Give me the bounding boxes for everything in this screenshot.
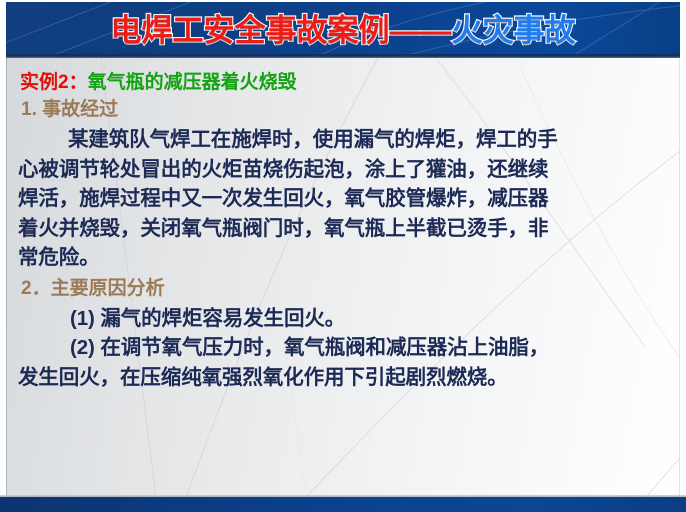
- section-2-item-2: (2) 在调节氧气压力时，氧气瓶阀和减压器沾上油脂， 发生回火，在压缩纯氧强烈氧…: [18, 338, 666, 388]
- list-item-continuation: 发生回火，在压缩纯氧强烈氧化作用下引起剧烈燃烧。: [18, 368, 666, 389]
- list-item: (2) 在调节氧气压力时，氧气瓶阀和减压器沾上油脂，: [18, 338, 666, 359]
- paragraph-line: 某建筑队气焊工在施焊时，使用漏气的焊炬，焊工的手: [18, 130, 666, 151]
- case-heading: 实例2：氧气瓶的减压器着火烧毁: [20, 73, 666, 92]
- slide-title-blue-part: 火灾事故: [452, 15, 576, 46]
- slide-title-band: 电焊工安全事故案例—— 火灾事故: [6, 2, 680, 58]
- case-label: 实例2：: [20, 72, 88, 93]
- paragraph-line: 着火并烧毁，关闭氧气瓶阀门时，氧气瓶上半截已烫手，非: [18, 219, 666, 240]
- paragraph-line: 常危险。: [18, 248, 666, 269]
- slide-body: 实例2：氧气瓶的减压器着火烧毁 1. 事故经过 某建筑队气焊工在施焊时，使用漏气…: [6, 58, 680, 497]
- slide-title-red-part: 电焊工安全事故案例——: [111, 15, 452, 46]
- section-1-heading: 1. 事故经过: [21, 100, 666, 119]
- list-item: (1) 漏气的焊炬容易发生回火。: [18, 309, 666, 330]
- section-2-item-1: (1) 漏气的焊炬容易发生回火。: [18, 309, 666, 330]
- paragraph-line: 心被调节轮处冒出的火炬苗烧伤起泡，涂上了獾油，还继续: [18, 160, 666, 181]
- section-1-paragraph: 某建筑队气焊工在施焊时，使用漏气的焊炬，焊工的手 心被调节轮处冒出的火炬苗烧伤起…: [18, 130, 666, 269]
- case-subject: 氧气瓶的减压器着火烧毁: [88, 72, 297, 93]
- paragraph-line: 焊活，施焊过程中又一次发生回火，氧气胶管爆炸，减压器: [18, 189, 666, 210]
- slide-title: 电焊工安全事故案例—— 火灾事故: [6, 2, 680, 58]
- section-2-heading: 2．主要原因分析: [21, 279, 666, 298]
- bottom-accent-bar: [0, 497, 686, 512]
- presentation-slide: 电焊工安全事故案例—— 火灾事故 实例2：氧气瓶的减压器着火烧毁 1. 事故经过…: [0, 0, 686, 512]
